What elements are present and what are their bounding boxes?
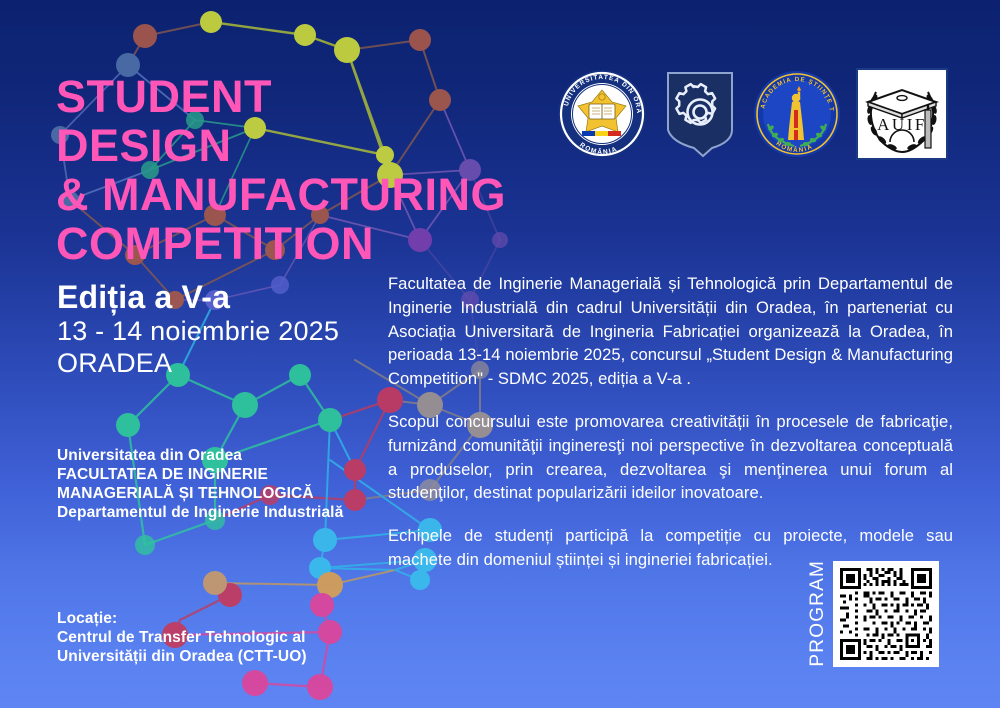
description-paragraph-1: Facultatea de Inginerie Managerială și T… (388, 272, 953, 391)
program-qr-code[interactable] (833, 561, 939, 667)
location-label: Locație: (57, 609, 307, 628)
location-block: Locație: Centrul de Transfer Tehnologic … (57, 609, 307, 666)
program-label: PROGRAM (808, 558, 827, 667)
gear-shield-logo-icon (662, 68, 738, 160)
location-line-1: Centrul de Transfer Tehnologic al (57, 628, 307, 647)
faculty-line-1: Universitatea din Oradea (57, 446, 343, 465)
faculty-block: Universitatea din Oradea FACULTATEA DE I… (57, 446, 343, 522)
edition-block: Ediția a V-a 13 - 14 noiembrie 2025 ORAD… (57, 279, 339, 379)
svg-text:AUIF: AUIF (877, 115, 927, 134)
location-line-2: Universității din Oradea (CTT-UO) (57, 647, 307, 666)
description-paragraph-2: Scopul concursului este promovarea creat… (388, 410, 953, 505)
partner-logos: UNIVERSITATEA DIN ORADEA ROMÂNIA (556, 68, 948, 160)
description-text: Facultatea de Inginerie Managerială și T… (388, 272, 953, 572)
edition-city: ORADEA (57, 347, 339, 379)
edition-dates: 13 - 14 noiembrie 2025 (57, 315, 339, 347)
program-qr-block: PROGRAM (808, 558, 939, 667)
faculty-line-2: FACULTATEA DE INGINERIE (57, 465, 343, 484)
poster-canvas: UNIVERSITATEA DIN ORADEA ROMÂNIA (0, 0, 1000, 708)
academia-stiinte-tehnice-seal-icon: ACADEMIA DE ȘTIINȚE TEHNICE ROMÂNIA (752, 68, 842, 160)
edition-heading: Ediția a V-a (57, 279, 339, 315)
title-line-4: COMPETITION (56, 219, 576, 268)
title-line-2: DESIGN (56, 121, 576, 170)
faculty-line-4: Departamentul de Inginerie Industrială (57, 503, 343, 522)
title-line-3: & MANUFACTURING (56, 170, 576, 219)
faculty-line-3: MANAGERIALĂ ȘI TEHNOLOGICĂ (57, 484, 343, 503)
qr-code-icon (837, 565, 935, 663)
auif-logo-icon: AUIF (856, 68, 948, 160)
poster-title: STUDENT DESIGN & MANUFACTURING COMPETITI… (56, 72, 576, 268)
title-line-1: STUDENT (56, 72, 576, 121)
